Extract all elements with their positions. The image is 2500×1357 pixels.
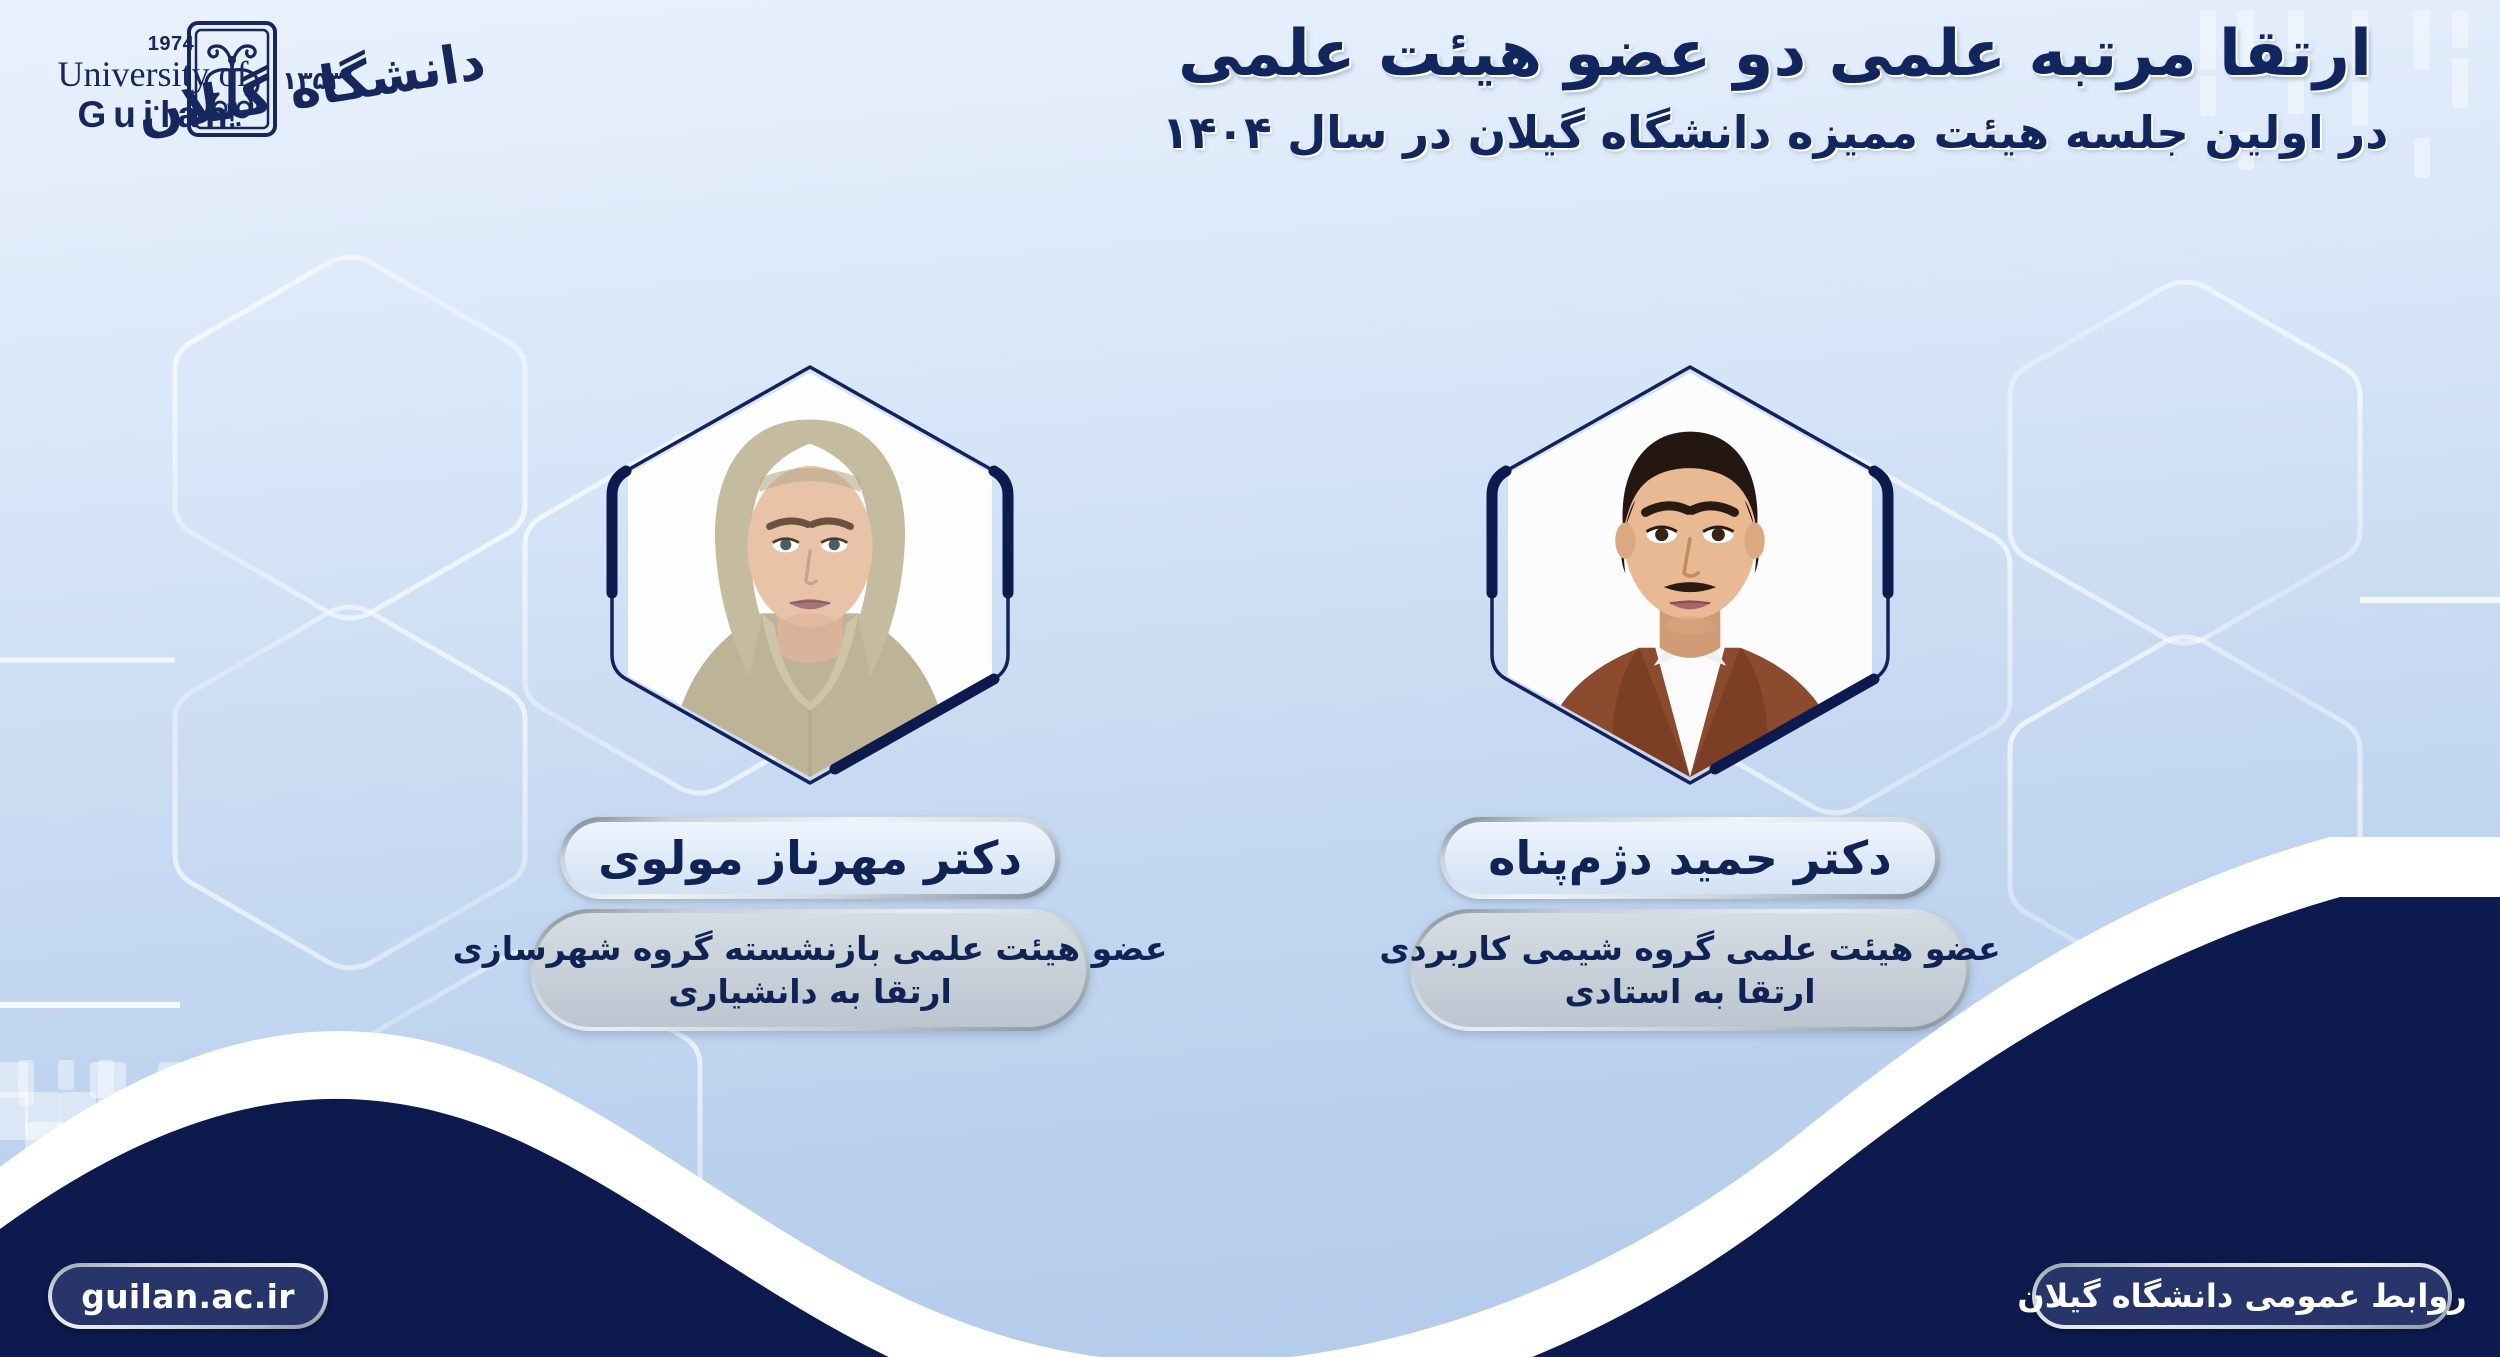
public-relations-badge: روابط عمومی دانشگاه گیلان xyxy=(2032,1263,2452,1329)
university-logo: 1974 University of Guilan ۱۳۵۳ د xyxy=(18,6,488,146)
announcement-poster: 1974 University of Guilan ۱۳۵۳ د xyxy=(0,0,2500,1357)
hexagon-border-molavi xyxy=(590,355,1030,795)
header-titles: ارتقا مرتبه علمی دو عضو هیئت علمی در اول… xyxy=(1110,14,2440,162)
hexagon-photo-frame-dezhampanah xyxy=(1470,355,1910,795)
hexagon-photo-frame-molavi xyxy=(590,355,1030,795)
page-subtitle: در اولین جلسه هیئت ممیزه دانشگاه گیلان د… xyxy=(1110,104,2440,163)
page-title: ارتقا مرتبه علمی دو عضو هیئت علمی xyxy=(1110,14,2440,96)
public-relations-label: روابط عمومی دانشگاه گیلان xyxy=(2017,1277,2466,1315)
website-badge[interactable]: guilan.ac.ir xyxy=(48,1263,328,1329)
website-url: guilan.ac.ir xyxy=(81,1277,295,1316)
logo-persian-text: ۱۳۵۳ دانشگاه گیلان xyxy=(280,12,485,142)
hexagon-border-dezhampanah xyxy=(1470,355,1910,795)
